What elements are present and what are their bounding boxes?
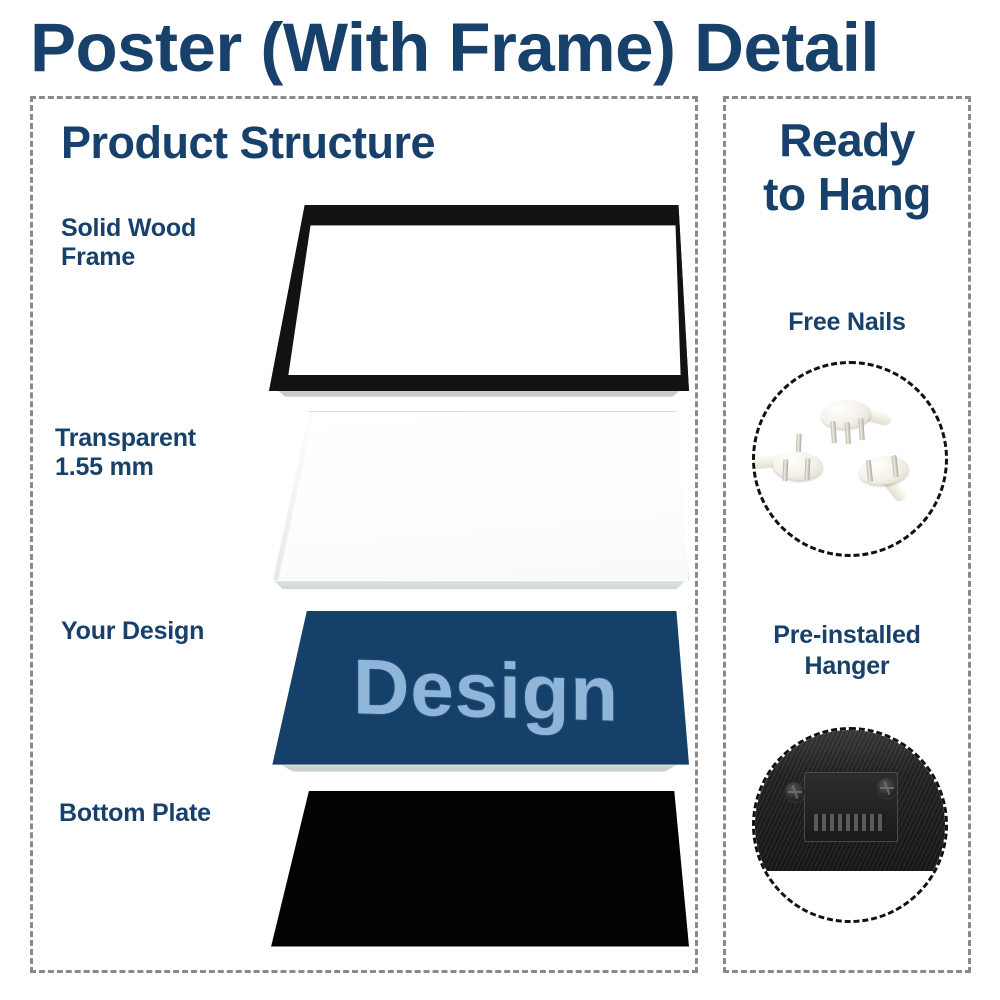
hanger-screw-right (877, 778, 897, 798)
product-structure-heading: Product Structure (61, 117, 435, 169)
acrylic-sheet-illustration (269, 411, 689, 589)
page-title: Poster (With Frame) Detail (30, 6, 970, 90)
wall-hook-left (772, 451, 831, 484)
layer-label-bottom-plate: Bottom Plate (59, 799, 211, 828)
hanger-photo-stage (755, 730, 945, 920)
sawtooth-strip (814, 814, 886, 831)
hanger-screw-left (785, 782, 805, 802)
hook-disc (772, 451, 823, 482)
layer-label-solid-wood-frame: Solid WoodFrame (61, 214, 196, 272)
nails-photo-stage (755, 364, 945, 554)
wall-hook-top (820, 398, 880, 432)
ready-to-hang-panel: Readyto Hang Free Nails (723, 96, 971, 973)
bottom-plate-surface (269, 791, 689, 953)
bottom-plate-illustration (269, 791, 689, 953)
feature-label-pre-installed-hanger: Pre-installedHanger (726, 620, 968, 682)
acrylic-outline (269, 411, 689, 589)
sawtooth-hanger-photo (752, 727, 948, 923)
wood-frame-illustration (269, 205, 689, 391)
design-drop-shadow (277, 765, 680, 772)
layer-label-your-design: Your Design (61, 617, 204, 646)
design-poster-surface: Design (269, 611, 689, 771)
frame-drop-shadow (273, 390, 685, 397)
wall-hook-right (858, 453, 919, 489)
white-wall-hooks-photo (752, 361, 948, 557)
product-structure-panel: Product Structure Solid WoodFrame Transp… (30, 96, 698, 973)
design-poster-illustration: Design (269, 611, 689, 771)
frame-inner-opening (288, 225, 680, 376)
acrylic-bottom-edge (274, 581, 689, 589)
layer-label-transparent-sheet: Transparent1.55 mm (55, 424, 196, 482)
hook-disc (858, 454, 911, 487)
design-artwork-text: Design (353, 641, 619, 739)
feature-label-free-nails: Free Nails (726, 307, 968, 338)
ready-to-hang-heading: Readyto Hang (726, 113, 968, 221)
